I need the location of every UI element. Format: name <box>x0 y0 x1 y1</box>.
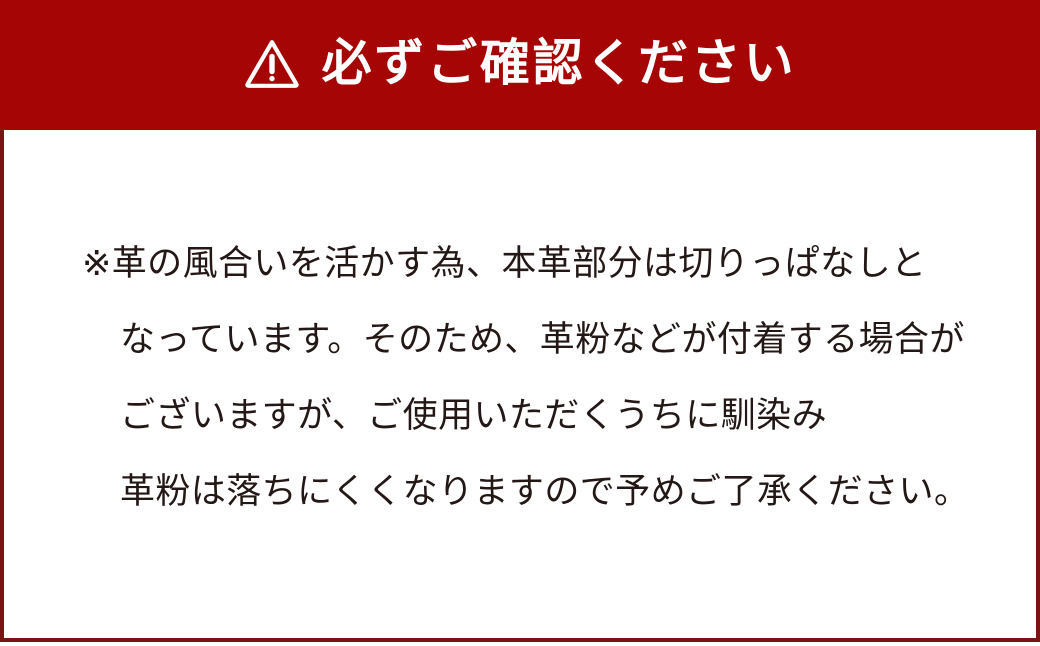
page-title: 必ずご確認ください <box>322 38 797 88</box>
notice-page: 必ずご確認ください ※革の風合いを活かす為、本革部分は切りっぱなしと なっていま… <box>0 0 1040 646</box>
notice-line: ございますが、ご使用いただくうちに馴染み <box>82 378 990 454</box>
notice-line: ※革の風合いを活かす為、本革部分は切りっぱなしと <box>82 226 990 302</box>
warning-triangle-icon <box>244 37 300 89</box>
warning-banner: 必ずご確認ください <box>0 0 1040 130</box>
notice-box: ※革の風合いを活かす為、本革部分は切りっぱなしと なっています。そのため、革粉な… <box>0 130 1040 642</box>
notice-line: 革粉は落ちにくくなりますので予めご了承ください。 <box>82 454 990 530</box>
notice-text-block: ※革の風合いを活かす為、本革部分は切りっぱなしと なっています。そのため、革粉な… <box>4 130 1036 530</box>
warning-banner-content: 必ずご確認ください <box>244 37 797 89</box>
notice-line: なっています。そのため、革粉などが付着する場合が <box>82 302 990 378</box>
